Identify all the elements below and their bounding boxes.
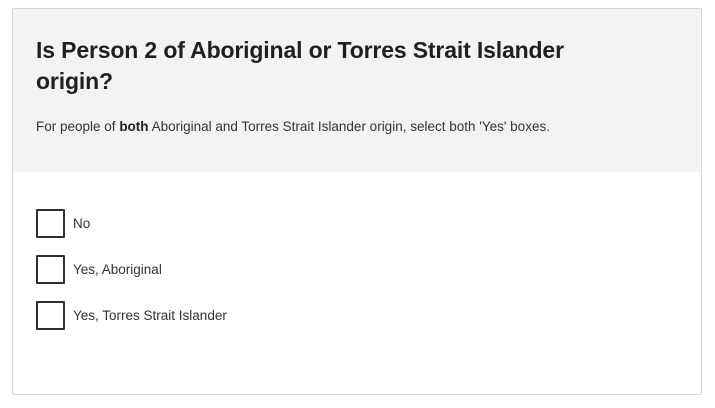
question-hint-suffix: Aboriginal and Torres Strait Islander or… (149, 119, 550, 134)
question-header: Is Person 2 of Aboriginal or Torres Stra… (13, 9, 701, 172)
checkbox-unchecked-icon[interactable]: ✓ (36, 255, 65, 284)
question-options-group: ✓ No ✓ Yes, Aboriginal ✓ Yes, Torres Str… (13, 172, 701, 330)
checkbox-unchecked-icon[interactable]: ✓ (36, 209, 65, 238)
option-row-yes-torres-strait-islander[interactable]: ✓ Yes, Torres Strait Islander (36, 301, 227, 330)
option-row-no[interactable]: ✓ No (36, 209, 90, 238)
option-label-yes-aboriginal: Yes, Aboriginal (73, 261, 162, 279)
question-card: Is Person 2 of Aboriginal or Torres Stra… (12, 8, 702, 395)
question-hint-prefix: For people of (36, 119, 119, 134)
option-label-no: No (73, 215, 90, 233)
option-row-yes-aboriginal[interactable]: ✓ Yes, Aboriginal (36, 255, 162, 284)
question-hint: For people of both Aboriginal and Torres… (36, 117, 678, 136)
checkbox-unchecked-icon[interactable]: ✓ (36, 301, 65, 330)
option-label-yes-torres-strait-islander: Yes, Torres Strait Islander (73, 307, 227, 325)
question-hint-emphasis: both (119, 119, 148, 134)
page-title: Is Person 2 of Aboriginal or Torres Stra… (36, 35, 636, 97)
